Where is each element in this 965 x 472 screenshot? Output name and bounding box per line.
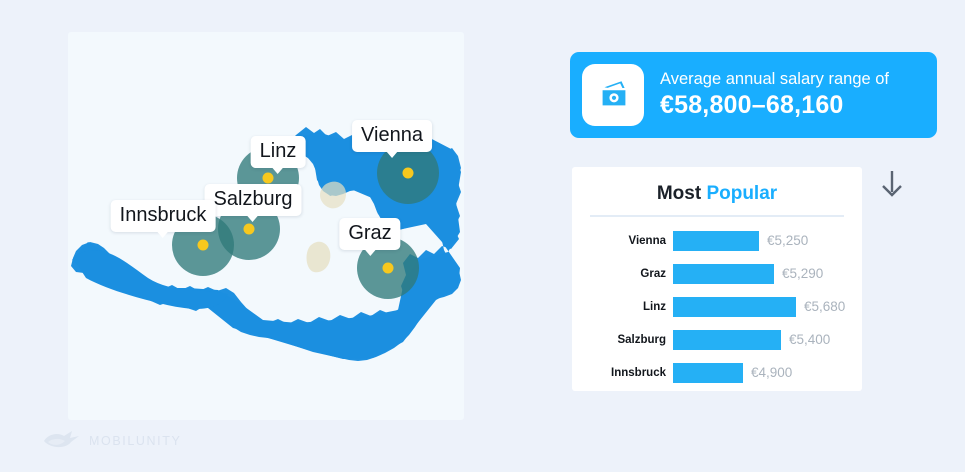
map-dot-linz (263, 173, 274, 184)
map-label-vienna[interactable]: Vienna (352, 120, 432, 152)
map-dot-salzburg (244, 224, 255, 235)
chart-title-part2: Popular (706, 183, 777, 204)
most-popular-chart-panel: Most Popular Vienna €5,250 Graz €5,290 L… (572, 167, 862, 391)
chart-row-label: Innsbruck (572, 367, 673, 379)
chart-row: Innsbruck €4,900 (572, 360, 862, 386)
chart-row-bar (673, 363, 743, 383)
banner-text-block: Average annual salary range of €58,800–6… (660, 69, 889, 122)
chart-row-value: €5,290 (774, 266, 823, 281)
chart-row-label: Salzburg (572, 334, 673, 346)
chart-row-value: €5,680 (796, 299, 845, 314)
arrow-down-icon[interactable] (880, 168, 904, 200)
chart-row: Vienna €5,250 (572, 228, 862, 254)
chart-rows: Vienna €5,250 Graz €5,290 Linz €5,680 Sa… (572, 228, 862, 386)
chart-row-value: €5,400 (781, 332, 830, 347)
banknotes-icon (596, 80, 630, 110)
map-label-salzburg[interactable]: Salzburg (205, 184, 302, 216)
chart-row-bar (673, 330, 781, 350)
chart-row-value: €4,900 (743, 365, 792, 380)
chart-divider (590, 215, 844, 217)
map-dot-graz (383, 263, 394, 274)
chart-title: Most Popular (572, 167, 862, 205)
chart-row-label: Graz (572, 268, 673, 280)
chart-row-bar (673, 231, 759, 251)
chart-row-label: Vienna (572, 235, 673, 247)
map-card: Vienna Linz Salzburg Innsbruck Graz (68, 32, 464, 420)
map-label-innsbruck[interactable]: Innsbruck (111, 200, 216, 232)
mobilunity-logo: MOBILUNITY (42, 430, 181, 452)
chart-row-label: Linz (572, 301, 673, 313)
banner-amount: €58,800–68,160 (660, 90, 889, 121)
chart-title-part1: Most (657, 183, 707, 204)
chart-row: Graz €5,290 (572, 261, 862, 287)
chart-row-bar (673, 297, 796, 317)
chart-row-value: €5,250 (759, 233, 808, 248)
map-label-graz[interactable]: Graz (339, 218, 400, 250)
map-dot-innsbruck (198, 240, 209, 251)
chart-row-bar (673, 264, 774, 284)
logo-text: MOBILUNITY (89, 434, 181, 448)
money-icon-container (582, 64, 644, 126)
salary-range-banner: Average annual salary range of €58,800–6… (570, 52, 937, 138)
chart-row: Salzburg €5,400 (572, 327, 862, 353)
chart-row: Linz €5,680 (572, 294, 862, 320)
banner-caption: Average annual salary range of (660, 69, 889, 90)
map-dot-vienna (403, 168, 414, 179)
map-label-linz[interactable]: Linz (251, 136, 306, 168)
alpine-shade-1 (307, 242, 331, 273)
whale-logo-icon (42, 430, 80, 452)
